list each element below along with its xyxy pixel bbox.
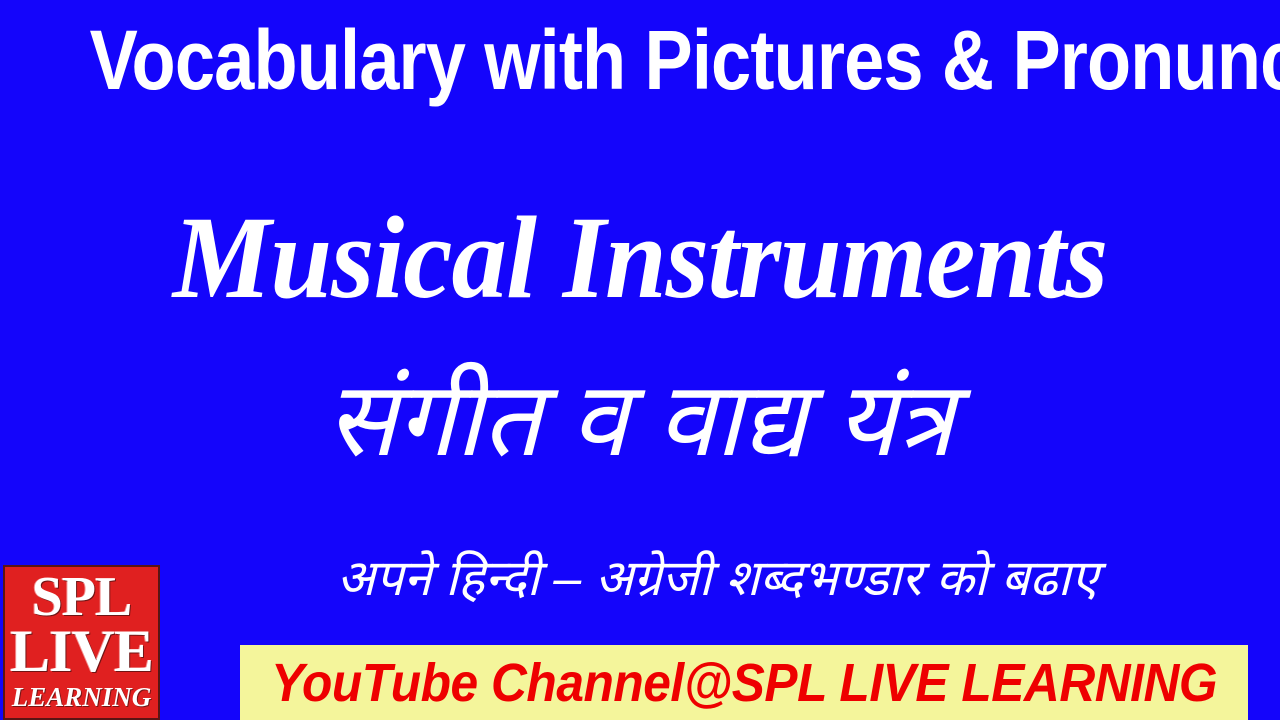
youtube-channel-label: YouTube Channel@SPL LIVE LEARNING bbox=[271, 656, 1217, 710]
logo-line-live: LIVE bbox=[10, 623, 153, 681]
brand-logo: SPL LIVE LEARNING bbox=[3, 565, 160, 720]
logo-line-learning: LEARNING bbox=[12, 684, 152, 711]
topic-title-hindi: संगीत व वाद्य यंत्र bbox=[0, 358, 1280, 483]
topic-title-english: Musical Instruments bbox=[38, 196, 1241, 320]
logo-line-spl: SPL bbox=[32, 571, 132, 625]
page-title: Vocabulary with Pictures & Pronunciation bbox=[90, 18, 1191, 102]
tagline-hindi: अपने हिन्दी – अग्रेजी शब्दभण्डार को बढाए bbox=[170, 548, 1265, 608]
youtube-channel-banner: YouTube Channel@SPL LIVE LEARNING bbox=[240, 645, 1248, 720]
slide-canvas: Vocabulary with Pictures & Pronunciation… bbox=[0, 0, 1280, 720]
